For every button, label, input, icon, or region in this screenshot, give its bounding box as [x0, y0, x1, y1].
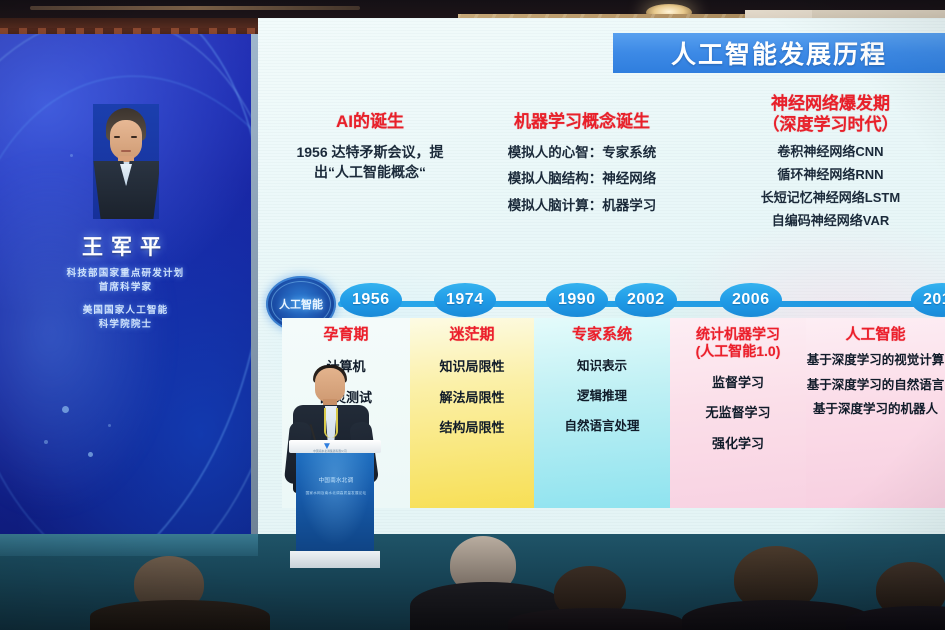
audience-member	[690, 546, 860, 630]
timeline-node-2016: 2016	[911, 283, 945, 317]
column-line: 循环神经网络RNN	[716, 168, 945, 181]
slide-title-bar: 人工智能发展历程	[613, 33, 945, 73]
ceiling-light-strip	[30, 6, 360, 10]
audience-shoulders	[682, 600, 872, 630]
column-line: 自编码神经网络VAR	[716, 214, 945, 227]
concept-column-machine-learning: 机器学习概念诞生 模拟人的心智：专家系统 模拟人脑结构：神经网络 模拟人脑计算：…	[454, 112, 710, 212]
timeline-node-2006: 2006	[720, 283, 782, 317]
era-card-line: 强化学习	[670, 436, 806, 452]
audience-member	[96, 556, 256, 630]
podium-top-surface: ▼ 中国南水北调集团有限公司	[289, 440, 381, 453]
era-card-title: 孕育期	[282, 326, 410, 344]
column-line: 模拟人脑计算：机器学习	[454, 199, 710, 213]
column-line: 模拟人的心智：专家系统	[454, 146, 710, 160]
presenter-head	[315, 368, 345, 402]
column-heading: 机器学习概念诞生	[454, 112, 710, 133]
portrait-eye-left	[114, 136, 120, 138]
slide-title: 人工智能发展历程	[671, 35, 887, 71]
era-card-line: 基于深度学习的视觉计算	[806, 353, 945, 369]
speaker-affiliation-line-4: 科学院院士	[0, 316, 251, 330]
era-card-line: 无监督学习	[670, 405, 806, 421]
era-card-line: 基于深度学习的机器人	[806, 402, 945, 418]
portrait-face	[110, 120, 142, 160]
timeline-badge-label: 人工智能	[279, 296, 323, 312]
timeline-node-2002: 2002	[615, 283, 677, 317]
era-card-expert-system: 专家系统 知识表示 逻辑推理 自然语言处理	[534, 318, 670, 508]
panel-particle	[108, 424, 111, 427]
era-card-title-line-2: (人工智能1.0)	[670, 343, 806, 360]
era-card-line: 结构局限性	[410, 420, 534, 436]
column-line: 模拟人脑结构：神经网络	[454, 172, 710, 186]
speaker-name: 王军平	[0, 231, 251, 261]
audience-member	[520, 566, 670, 630]
speaker-info-panel: 王军平 科技部国家重点研发计划 首席科学家 美国国家人工智能 科学院院士	[0, 34, 251, 534]
era-card-line: 自然语言处理	[534, 419, 670, 434]
column-heading-line-1: 神经网络爆发期	[716, 94, 945, 115]
column-heading-line-2: （深度学习时代）	[716, 115, 945, 136]
era-card-confusion: 迷茫期 知识局限性 解法局限性 结构局限性	[410, 318, 534, 508]
conference-stage-photo: 王军平 科技部国家重点研发计划 首席科学家 美国国家人工智能 科学院院士 人工智…	[0, 0, 945, 630]
era-card-statistical-ml: 统计机器学习 (人工智能1.0) 监督学习 无监督学习 强化学习	[670, 318, 806, 508]
speaker-affiliation-line-1: 科技部国家重点研发计划	[0, 265, 251, 279]
era-card-line: 解法局限性	[410, 390, 534, 406]
speaker-portrait	[93, 104, 159, 219]
column-heading: AI的诞生	[280, 112, 460, 133]
audience-shoulders	[846, 606, 945, 630]
audience-shoulders	[90, 600, 270, 630]
concept-column-ai-birth: AI的诞生 1956 达特矛斯会议，提出“人工智能概念“	[280, 112, 460, 182]
era-card-line: 知识局限性	[410, 359, 534, 375]
podium-banner-line-1: 中国南水北调	[314, 475, 358, 487]
concept-column-neural-network: 神经网络爆发期 （深度学习时代） 卷积神经网络CNN 循环神经网络RNN 长短记…	[716, 94, 945, 227]
column-line: 长短记忆神经网络LSTM	[716, 191, 945, 204]
panel-particle	[88, 452, 93, 457]
era-card-line: 逻辑推理	[534, 389, 670, 404]
podium-front-banner: 中国南水北调 国家水网及南水北调高质量发展论坛	[296, 453, 374, 551]
era-card-title-line-1: 统计机器学习	[670, 326, 806, 343]
column-line: 1956 达特矛斯会议，提出“人工智能概念“	[280, 142, 460, 183]
audience-shoulders	[508, 608, 684, 630]
panel-particle	[62, 406, 69, 413]
panel-particle	[70, 154, 73, 157]
speaker-affiliation-line-2: 首席科学家	[0, 279, 251, 293]
era-card-line: 基于深度学习的自然语言	[806, 378, 945, 394]
speaker-affiliation-line-3: 美国国家人工智能	[0, 302, 251, 316]
podium: ▼ 中国南水北调集团有限公司 中国南水北调 国家水网及南水北调高质量发展论坛	[294, 440, 376, 568]
stage-floor-edge	[0, 534, 258, 556]
era-card-title: 专家系统	[534, 326, 670, 344]
era-card-line: 监督学习	[670, 375, 806, 391]
podium-banner-line-2: 国家水网及南水北调高质量发展论坛	[304, 491, 368, 496]
panel-particle	[44, 440, 48, 444]
portrait-mouth	[121, 150, 131, 152]
era-card-line: 知识表示	[534, 359, 670, 374]
presenter-lanyard	[324, 408, 338, 438]
era-card-ai-modern: 人工智能 基于深度学习的视觉计算 基于深度学习的自然语言 基于深度学习的机器人	[806, 318, 945, 508]
timeline-node-1956: 1956	[340, 283, 402, 317]
timeline-node-1974: 1974	[434, 283, 496, 317]
panel-edge	[251, 34, 258, 534]
era-card-title: 人工智能	[806, 326, 945, 344]
podium-base	[290, 551, 380, 568]
timeline-node-1990: 1990	[546, 283, 608, 317]
audience-member	[860, 562, 945, 630]
column-line: 卷积神经网络CNN	[716, 145, 945, 158]
portrait-eye-right	[131, 136, 137, 138]
era-card-title: 迷茫期	[410, 326, 534, 344]
